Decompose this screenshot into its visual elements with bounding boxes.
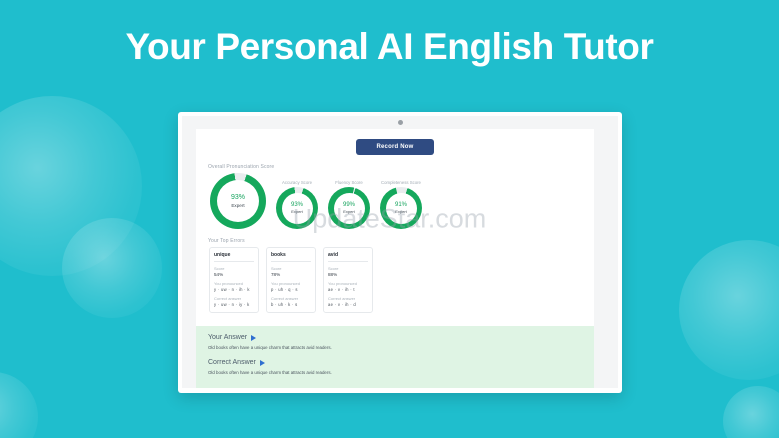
error-pronounced-ipa: ae · v · ih · t: [328, 287, 368, 292]
error-pronounced-label: You pronounced: [271, 281, 311, 286]
error-score-label: Score: [271, 266, 311, 271]
error-card[interactable]: books Score 78% You pronounced p · uh · …: [266, 247, 316, 313]
ring-completeness-caption: Completeness Score: [381, 180, 421, 185]
error-word: avid: [328, 252, 368, 262]
ring-completeness: Completeness Score 91% Expert: [380, 180, 422, 229]
page-title: Your Personal AI English Tutor: [0, 26, 779, 68]
ring-accuracy-percent: 93%: [291, 202, 303, 210]
error-word: unique: [214, 252, 254, 262]
ring-accuracy-gauge: 93% Expert: [276, 187, 318, 229]
decorative-circle-bottom-left: [0, 372, 38, 438]
score-rings: 93% Expert Accuracy Score 93% Expert: [206, 173, 584, 229]
decorative-circle-right: [679, 240, 779, 380]
your-answer-label: Your Answer: [208, 334, 247, 341]
error-correct-ipa: b · uh · k · s: [271, 302, 311, 307]
error-word: books: [271, 252, 311, 262]
error-score-value: 78%: [271, 272, 311, 277]
ring-accuracy-level: Expert: [291, 209, 303, 214]
play-icon[interactable]: [251, 335, 256, 341]
error-pronounced-ipa: y · uw · n · ih · k: [214, 287, 254, 292]
ring-fluency-caption: Fluency Score: [335, 180, 362, 185]
error-score-value: 88%: [328, 272, 368, 277]
device-screen: Record Now Overall Pronunciation Score 9…: [182, 129, 618, 388]
error-score-label: Score: [328, 266, 368, 271]
your-answer-text: Old books often have a unique charm that…: [208, 345, 582, 350]
ring-overall-center: 93% Expert: [217, 180, 259, 222]
ring-fluency-gauge: 99% Expert: [328, 187, 370, 229]
error-correct-label: Correct answer: [328, 296, 368, 301]
ring-overall: 93% Expert: [210, 173, 266, 229]
error-pronounced-label: You pronounced: [328, 281, 368, 286]
error-score-value: 54%: [214, 272, 254, 277]
ring-completeness-percent: 91%: [395, 202, 407, 210]
correct-answer-label: Correct Answer: [208, 359, 256, 366]
record-now-button[interactable]: Record Now: [356, 139, 433, 155]
ring-accuracy-center: 93% Expert: [282, 193, 313, 224]
ring-fluency-level: Expert: [343, 209, 355, 214]
error-card[interactable]: unique Score 54% You pronounced y · uw ·…: [209, 247, 259, 313]
error-pronounced-label: You pronounced: [214, 281, 254, 286]
ring-completeness-center: 91% Expert: [386, 193, 417, 224]
ring-fluency: Fluency Score 99% Expert: [328, 180, 370, 229]
decorative-circle-small-left: [62, 218, 162, 318]
device-mockup: Record Now Overall Pronunciation Score 9…: [178, 112, 622, 393]
error-score-label: Score: [214, 266, 254, 271]
device-top-bar: [182, 116, 618, 129]
ring-completeness-gauge: 91% Expert: [380, 187, 422, 229]
ring-overall-level: Expert: [231, 203, 244, 209]
error-correct-ipa: ae · v · ih · d: [328, 302, 368, 307]
error-correct-label: Correct answer: [271, 296, 311, 301]
error-card[interactable]: avid Score 88% You pronounced ae · v · i…: [323, 247, 373, 313]
ring-completeness-level: Expert: [395, 209, 407, 214]
error-correct-label: Correct answer: [214, 296, 254, 301]
your-answer-header: Your Answer: [208, 334, 582, 341]
record-button-row: Record Now: [206, 139, 584, 155]
scores-section-label: Overall Pronunciation Score: [208, 164, 584, 170]
answer-panel: Your Answer Old books often have a uniqu…: [196, 326, 594, 388]
correct-answer-text: Old books often have a unique charm that…: [208, 370, 582, 375]
ring-accuracy: Accuracy Score 93% Expert: [276, 180, 318, 229]
ring-fluency-percent: 99%: [343, 202, 355, 210]
play-icon[interactable]: [260, 360, 265, 366]
ring-overall-gauge: 93% Expert: [210, 173, 266, 229]
correct-answer-header: Correct Answer: [208, 359, 582, 366]
errors-section-label: Your Top Errors: [208, 238, 584, 244]
error-pronounced-ipa: p · uh · q · s: [271, 287, 311, 292]
decorative-circle-bottom-right: [723, 386, 779, 438]
ring-accuracy-caption: Accuracy Score: [282, 180, 312, 185]
ring-overall-percent: 93%: [231, 194, 245, 203]
camera-dot-icon: [398, 120, 403, 125]
error-cards: unique Score 54% You pronounced y · uw ·…: [206, 247, 584, 313]
app-content: Record Now Overall Pronunciation Score 9…: [196, 129, 594, 388]
ring-fluency-center: 99% Expert: [334, 193, 365, 224]
error-correct-ipa: y · uw · n · iy · k: [214, 302, 254, 307]
